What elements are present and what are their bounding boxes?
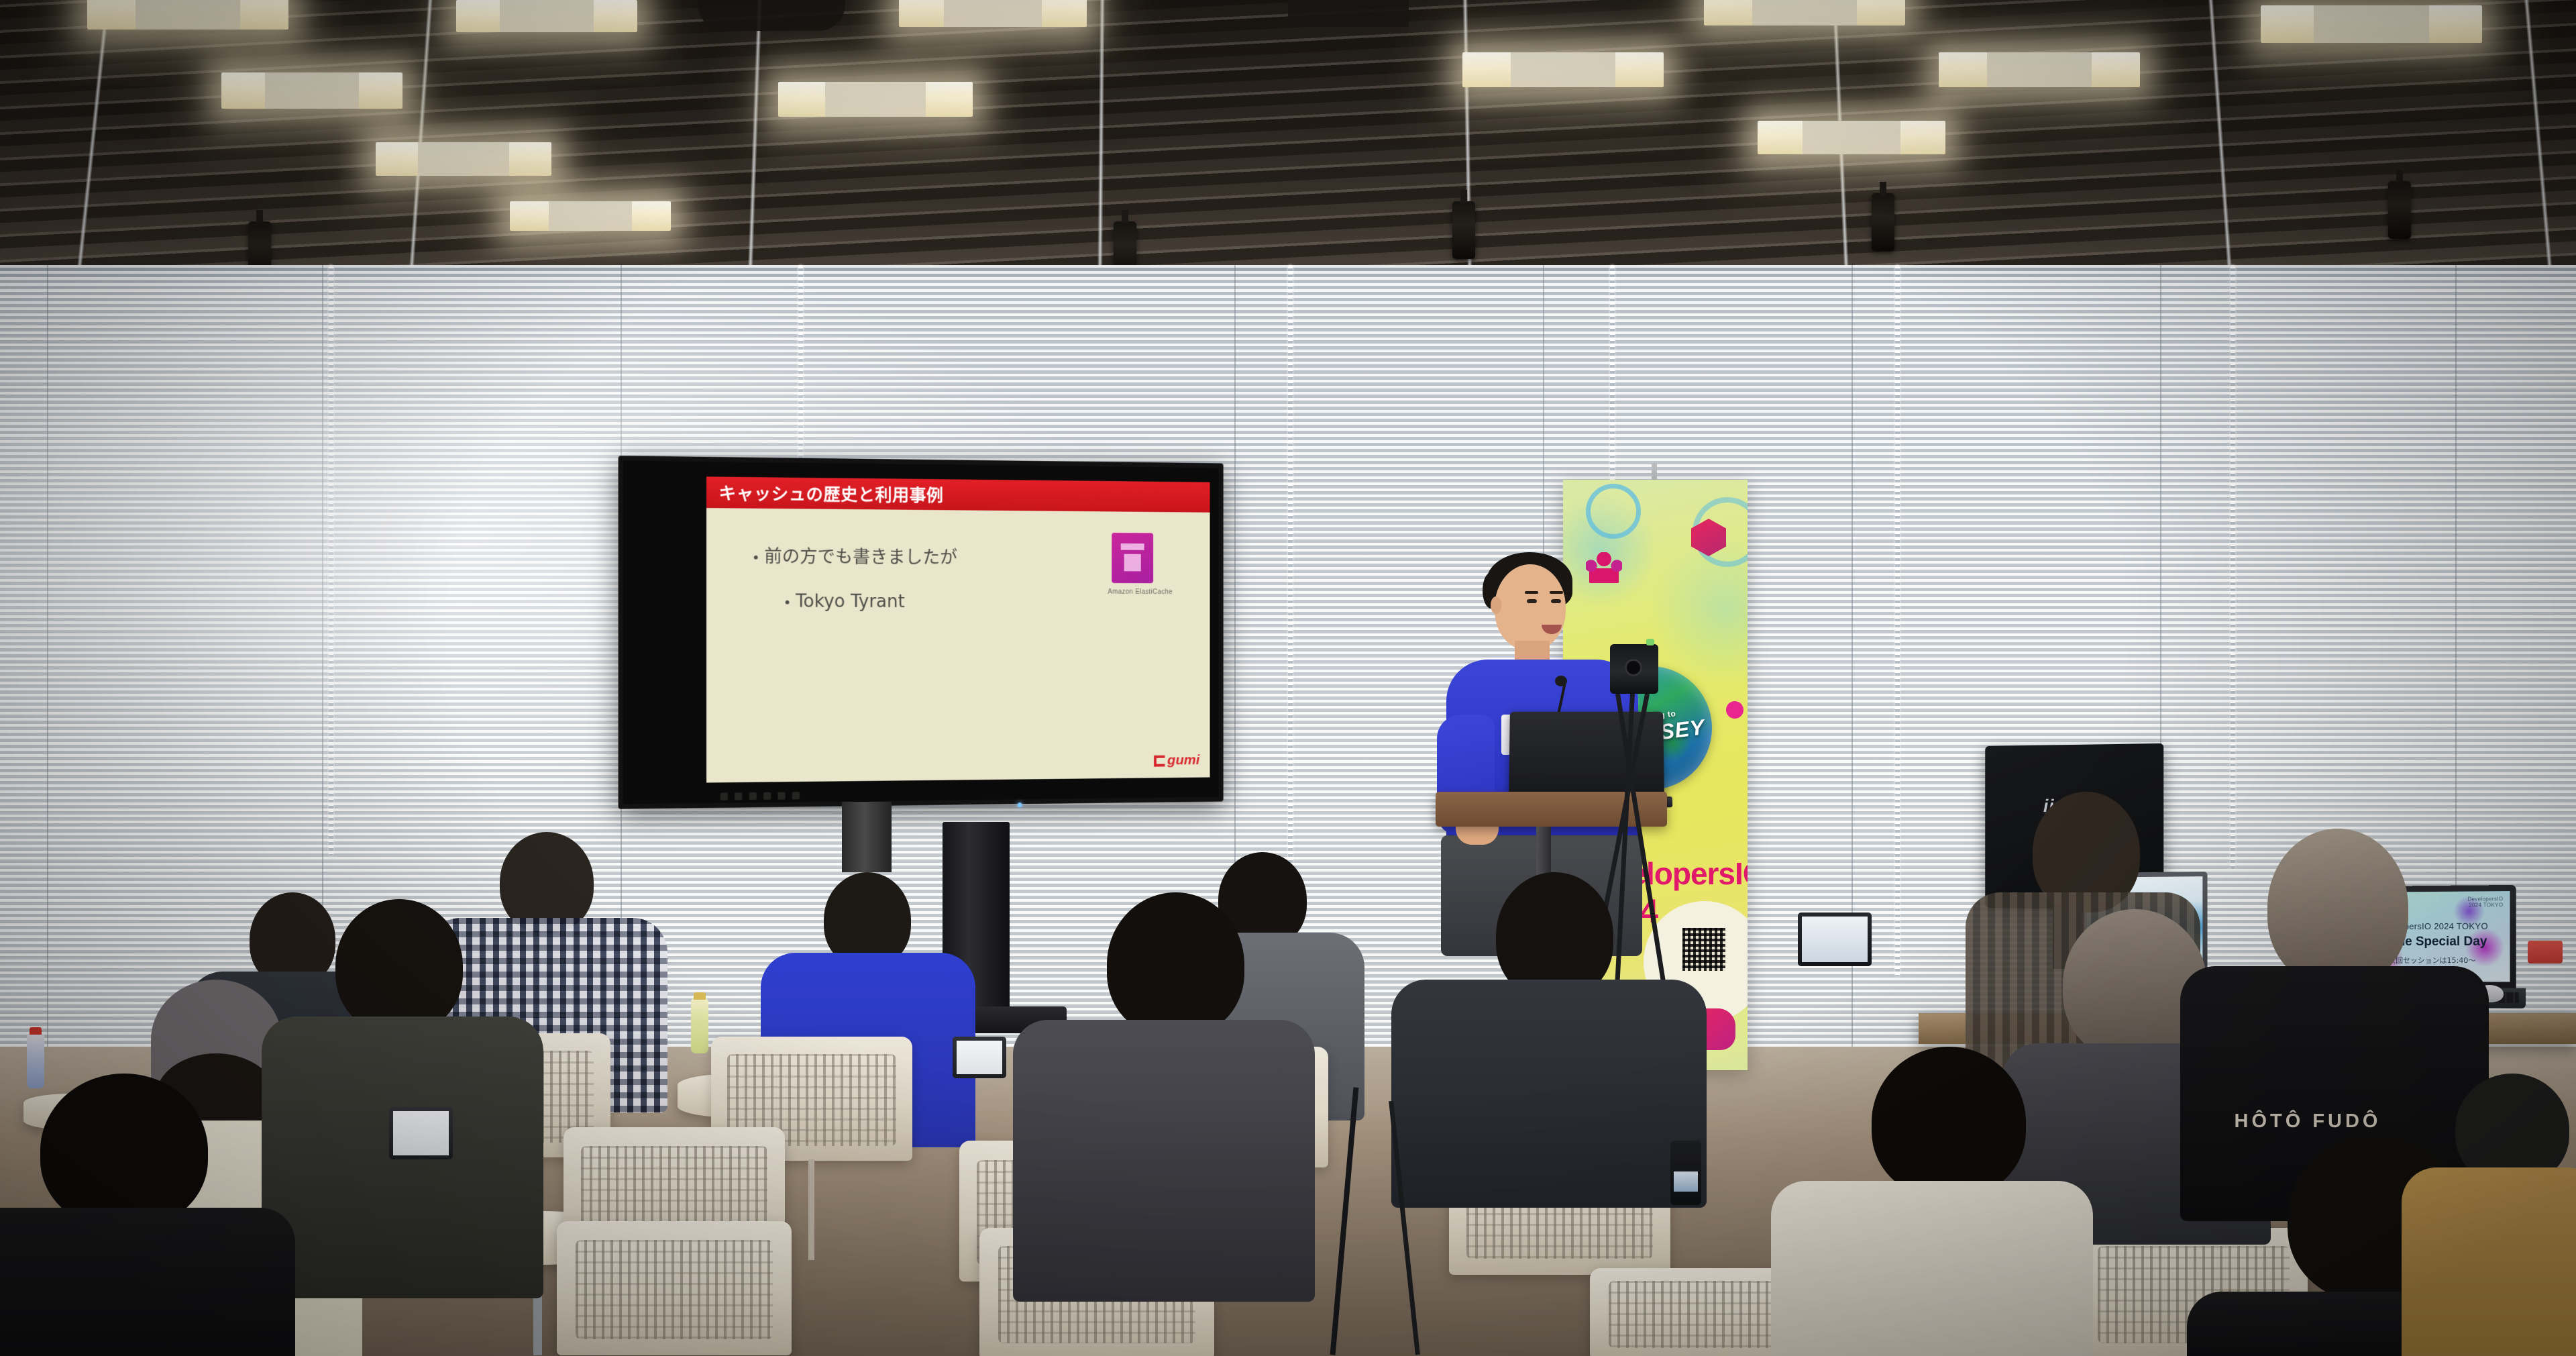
ceiling-light-panel <box>87 0 288 30</box>
audience-person <box>2415 1074 2576 1356</box>
chair[interactable] <box>557 1221 792 1355</box>
audience-laptop[interactable] <box>1798 912 1872 966</box>
person-torso <box>1013 1020 1315 1302</box>
ceiling-light-panel <box>221 72 402 109</box>
person-head <box>1872 1047 2026 1198</box>
red-device <box>2528 941 2563 963</box>
chair-leg <box>808 1159 814 1260</box>
person-head <box>335 899 463 1033</box>
presentation-display: キャッシュの歴史と利用事例 前の方でも書きましたが Tokyo Tyrant A… <box>619 456 1224 809</box>
gumi-logo: gumi <box>1154 752 1199 768</box>
audience-tshirt-text: HÔTÔ FUDÔ <box>2194 1110 2422 1133</box>
blind-cord[interactable] <box>1895 265 1900 976</box>
ceiling-light-panel <box>376 142 551 176</box>
gimbal-camera[interactable] <box>1670 1141 1701 1205</box>
ceiling-grid <box>0 0 2576 278</box>
ceiling-light-panel <box>899 0 1087 27</box>
person-head <box>1107 892 1244 1037</box>
volume-icon[interactable] <box>763 792 771 800</box>
audience-person <box>1758 1047 2080 1356</box>
ceiling-light-panel <box>1939 52 2140 87</box>
person-torso <box>1771 1181 2093 1356</box>
gumi-wordmark: gumi <box>1167 752 1199 768</box>
banner-ring-decoration <box>1586 484 1641 539</box>
amazon-elasticache-label: Amazon ElastiCache <box>1108 588 1173 596</box>
menu-icon[interactable] <box>749 792 757 800</box>
microphone-icon <box>1555 676 1567 686</box>
ceiling-light-panel <box>510 201 671 231</box>
slide-bullet: Tokyo Tyrant <box>784 591 905 612</box>
person-torso <box>1391 980 1707 1208</box>
presenter-eyebrow <box>1550 591 1563 594</box>
ceiling-light-panel <box>456 0 637 32</box>
settings-icon[interactable] <box>777 792 785 799</box>
banner-dot-decoration <box>1726 701 1743 719</box>
blind-cord[interactable] <box>329 265 333 855</box>
slide-title-bar: キャッシュの歴史と利用事例 <box>706 476 1210 512</box>
video-camera[interactable] <box>1610 644 1658 694</box>
slide-screen: キャッシュの歴史と利用事例 前の方でも書きましたが Tokyo Tyrant A… <box>706 476 1210 782</box>
ceiling <box>0 0 2576 278</box>
slide-bullet: 前の方でも書きましたが <box>752 542 957 568</box>
ceiling-spotlight <box>2388 181 2411 239</box>
ceiling-light-panel <box>778 82 973 117</box>
drink-bottle <box>691 998 708 1053</box>
presenter-ear <box>1491 596 1501 614</box>
audience-person <box>0 1074 282 1356</box>
ceiling-light-panel <box>1758 121 1945 154</box>
presenter-head <box>1495 564 1566 650</box>
camera-record-lamp-icon <box>1646 639 1654 645</box>
channel-icon[interactable] <box>792 792 800 799</box>
audience-person <box>1006 892 1295 1308</box>
audience-laptop[interactable] <box>389 1107 453 1159</box>
blind-seam <box>47 265 48 1057</box>
display-stand-neck <box>842 802 892 872</box>
conference-room-photo: キャッシュの歴史と利用事例 前の方でも書きましたが Tokyo Tyrant A… <box>0 0 2576 1356</box>
gumi-mark-icon <box>1154 755 1165 766</box>
presenter-eyebrow <box>1525 591 1538 594</box>
ceiling-spotlight <box>1452 201 1475 259</box>
ceiling-light-panel <box>2261 5 2482 43</box>
audience-laptop[interactable] <box>953 1037 1006 1078</box>
input-icon[interactable] <box>735 792 742 800</box>
person-head <box>40 1074 208 1228</box>
amazon-elasticache-icon <box>1112 533 1153 583</box>
ceiling-light-panel <box>1704 0 1905 25</box>
display-osd-buttons[interactable] <box>720 792 800 800</box>
ceiling-duct <box>1288 0 1409 27</box>
gimbal-screen <box>1674 1171 1698 1192</box>
presenter-eye <box>1551 599 1561 603</box>
ceiling-light-panel <box>1462 52 1664 87</box>
person-torso <box>2402 1167 2576 1356</box>
blind-cord[interactable] <box>2231 265 2235 869</box>
person-torso <box>0 1208 295 1356</box>
slide-title: キャッシュの歴史と利用事例 <box>719 480 944 507</box>
person-head <box>2267 829 2408 986</box>
power-icon[interactable] <box>720 792 728 800</box>
audience-person <box>1395 872 1697 1194</box>
slide-body: 前の方でも書きましたが Tokyo Tyrant Amazon ElastiCa… <box>706 508 1210 782</box>
presenter-eye <box>1527 599 1537 603</box>
ceiling-spotlight <box>1872 193 1894 251</box>
ceiling-duct <box>698 0 845 31</box>
